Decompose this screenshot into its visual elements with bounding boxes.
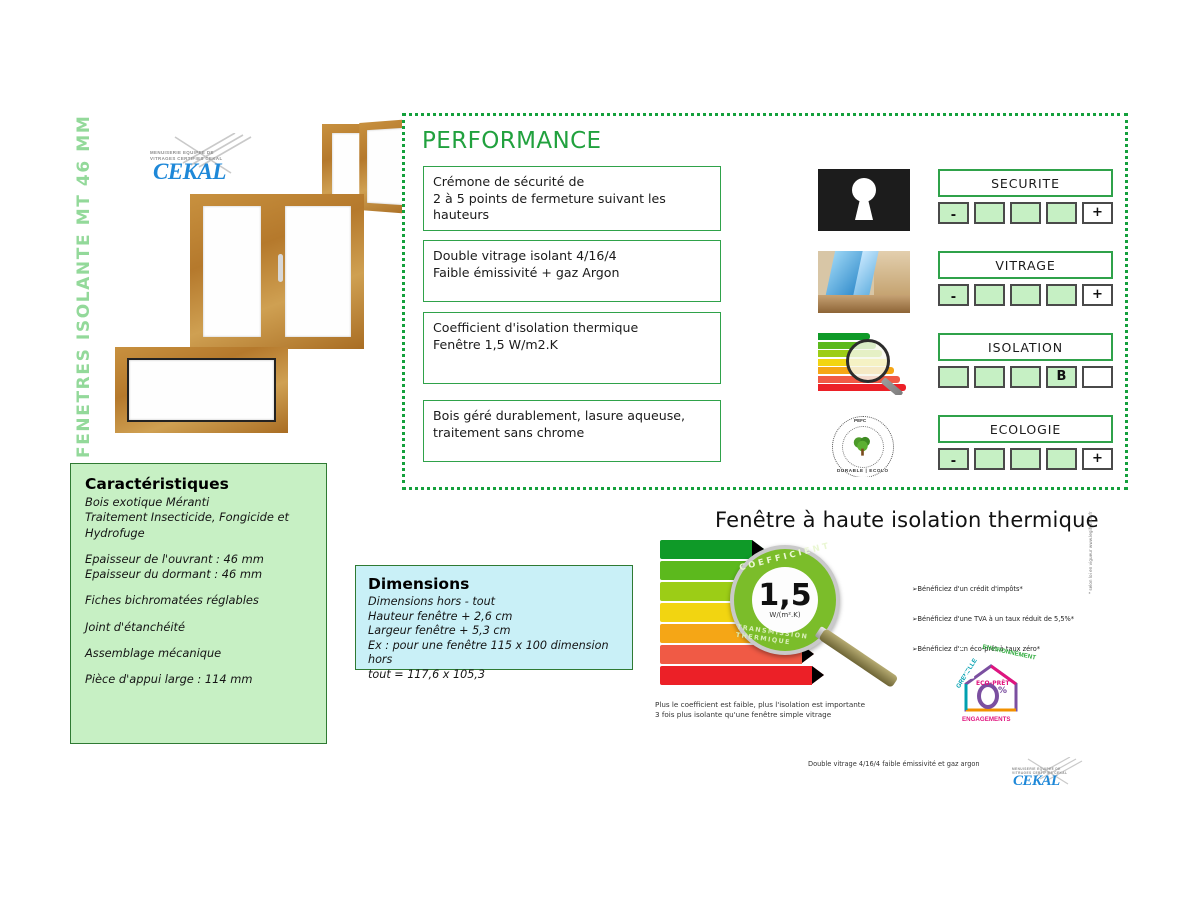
window-transom (115, 347, 288, 433)
rating-box[interactable] (974, 448, 1005, 470)
rating-box[interactable]: + (1082, 448, 1113, 470)
rating-label-ecologie: ECOLOGIE (938, 415, 1113, 443)
dimensions-line: Largeur fenêtre + 5,3 cm (368, 624, 620, 639)
rating-label-isolation: ISOLATION (938, 333, 1113, 361)
dimensions-line: Ex : pour une fenêtre 115 x 100 dimensio… (368, 639, 620, 668)
carac-line: Epaisseur du dormant : 46 mm (85, 567, 312, 582)
eco-logo-top-text: PEFC (854, 418, 866, 423)
cekal-wordmark: CEKAL (153, 159, 226, 185)
feature-box-cremone: Crémone de sécurité de 2 à 5 points de f… (423, 166, 721, 231)
dimensions-line: Hauteur fenêtre + 2,6 cm (368, 610, 620, 625)
rating-row-vitrage: VITRAGE - + (818, 251, 1118, 311)
rating-box[interactable] (1010, 366, 1041, 388)
promo-heading: Fenêtre à haute isolation thermique (715, 508, 1099, 532)
rating-box[interactable] (1082, 366, 1113, 388)
rating-box[interactable]: - (938, 202, 969, 224)
poster-page: FENETRES ISOLANTE MT 46 MM MENUISERIE EQ… (0, 0, 1202, 901)
rating-boxes-vitrage[interactable]: - + (938, 284, 1113, 306)
coefficient-magnifier: COEFFICIENT TRANSMISSION THERMIQUE 1,5 W… (730, 545, 840, 655)
eco-tree-icon: PEFC DURABLE | ECOLO (818, 415, 910, 477)
energy-letter-f: F (956, 647, 965, 662)
carac-line: Bois exotique Méranti (85, 495, 312, 510)
performance-title: PERFORMANCE (422, 128, 601, 154)
carac-line: Epaisseur de l'ouvrant : 46 mm (85, 552, 312, 567)
vertical-product-title: FENETRES ISOLANTE MT 46 MM (74, 128, 100, 458)
rating-box[interactable] (938, 366, 969, 388)
tree-glyph-icon (852, 435, 873, 457)
carac-line: Hydrofuge (85, 526, 312, 541)
cekal-logo-bottom: MENUISERIE EQUIPEE DEVITRAGES CERTIFIES … (1008, 757, 1084, 797)
benefit-item: ➢Bénéficiez d'un crédit d'impôts* (912, 585, 1074, 593)
glazing-icon (818, 251, 910, 313)
rating-box[interactable] (1010, 284, 1041, 306)
rating-box[interactable] (974, 202, 1005, 224)
window-main-double (190, 194, 364, 349)
dimensions-line: Dimensions hors - tout (368, 595, 620, 610)
coefficient-value: 1,5 (758, 581, 811, 611)
rating-row-ecologie: PEFC DURABLE | ECOLO ECOLOGIE - + (818, 415, 1118, 475)
rating-box[interactable] (1046, 284, 1077, 306)
benefit-item: ➢Bénéficiez d'une TVA à un taux réduit d… (912, 615, 1074, 623)
dimensions-panel: Dimensions Dimensions hors - tout Hauteu… (355, 565, 633, 670)
feature-box-coefficient: Coefficient d'isolation thermique Fenêtr… (423, 312, 721, 384)
window-handle (278, 254, 283, 282)
energy-letter-g: G (964, 668, 975, 683)
performance-panel: PERFORMANCE Crémone de sécurité de 2 à 5… (402, 113, 1128, 490)
caracteristiques-title: Caractéristiques (85, 475, 312, 493)
rating-label-securite: SECURITE (938, 169, 1113, 197)
rating-box[interactable] (974, 284, 1005, 306)
svg-text:ECO-PRÊT: ECO-PRÊT (976, 679, 1010, 687)
rating-label-vitrage: VITRAGE (938, 251, 1113, 279)
eco-logo-bottom-text: DURABLE | ECOLO (837, 468, 889, 473)
cekal-logo-top: MENUISERIE EQUIPEE DEVITRAGES CERTIFIES … (145, 133, 255, 191)
rating-boxes-ecologie[interactable]: - + (938, 448, 1113, 470)
feature-box-bois: Bois géré durablement, lasure aqueuse, t… (423, 400, 721, 462)
carac-line: Pièce d'appui large : 114 mm (85, 672, 312, 687)
legal-disclaimer: * selon loi en vigueur www.legifrance.fr (1088, 530, 1093, 594)
energy-letter-a: A (885, 542, 895, 557)
rating-box[interactable] (1010, 448, 1041, 470)
keyhole-icon (818, 169, 910, 231)
rating-box-grade-b[interactable]: B (1046, 366, 1077, 388)
caracteristiques-panel: Caractéristiques Bois exotique Méranti T… (70, 463, 327, 744)
grenelle-word-bottom: ENGAGEMENTS (962, 716, 1010, 723)
carac-line: Assemblage mécanique (85, 646, 312, 661)
rating-box[interactable] (974, 366, 1005, 388)
carac-line: Joint d'étanchéité (85, 620, 312, 635)
rating-boxes-securite[interactable]: - + (938, 202, 1113, 224)
bottom-glazing-note: Double vitrage 4/16/4 faible émissivité … (808, 760, 980, 768)
rating-box[interactable]: + (1082, 284, 1113, 306)
energy-magnifier-icon (818, 333, 910, 395)
rating-row-securite: SECURITE - + (818, 169, 1118, 229)
dimensions-title: Dimensions (368, 575, 620, 593)
cekal-wordmark: CEKAL (1013, 773, 1060, 790)
rating-box[interactable] (1046, 448, 1077, 470)
rating-boxes-isolation[interactable]: B (938, 366, 1113, 388)
energy-note: Plus le coefficient est faible, plus l'i… (655, 700, 865, 720)
rating-box[interactable] (1010, 202, 1041, 224)
rating-box[interactable] (1046, 202, 1077, 224)
rating-row-isolation: ISOLATION B (818, 333, 1118, 393)
coefficient-unit: W/(m².K) (769, 611, 800, 619)
carac-line: Traitement Insecticide, Fongicide et (85, 510, 312, 525)
rating-box[interactable]: - (938, 284, 969, 306)
rating-box[interactable]: + (1082, 202, 1113, 224)
rating-box[interactable]: - (938, 448, 969, 470)
dimensions-line: tout = 117,6 x 105,3 (368, 668, 620, 683)
carac-line: Fiches bichromatées réglables (85, 593, 312, 608)
feature-box-vitrage: Double vitrage isolant 4/16/4 Faible émi… (423, 240, 721, 302)
svg-text:%: % (998, 686, 1007, 696)
